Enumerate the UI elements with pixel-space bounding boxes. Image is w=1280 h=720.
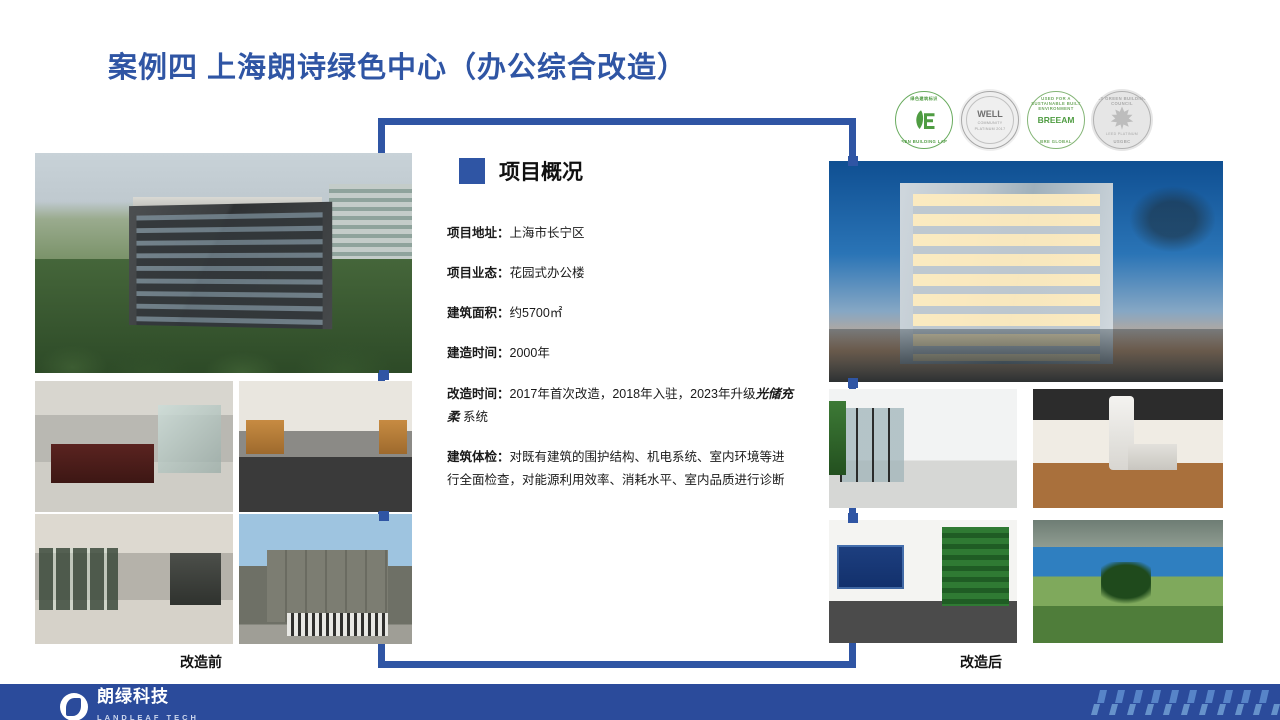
badge-leed-platinum-usgbc: US GREEN BUILDING COUNCIL LEED PLATINUM …	[1091, 89, 1153, 151]
badge-well-community-platinum: WELL COMMUNITY PLATINUM 2017	[959, 89, 1021, 151]
info-value-tail: 系统	[460, 410, 488, 424]
landleaf-logo-icon	[60, 693, 88, 720]
info-value: 2000年	[510, 346, 550, 360]
page-title: 案例四 上海朗诗绿色中心（办公综合改造）	[108, 44, 687, 86]
photo-layer-tree	[1121, 165, 1216, 320]
slide-root: 案例四 上海朗诗绿色中心（办公综合改造） 绿色建筑标识 GREEN BUILDI…	[0, 0, 1280, 720]
caption-after: 改造后	[960, 652, 1002, 672]
footer-decoration	[1090, 684, 1280, 720]
info-value: 约5700㎡	[510, 306, 563, 320]
photo-layer	[35, 514, 233, 644]
photo-layer	[1033, 389, 1223, 508]
info-value: 2017年首次改造，2018年入驻，2023年升级	[510, 387, 756, 401]
badge-breeam: USED FOR A SUSTAINABLE BUILT ENVIRONMENT…	[1025, 89, 1087, 151]
info-label: 建造时间：	[447, 346, 510, 360]
badge-bottom-text: GREEN BUILDING LABEL	[893, 139, 955, 144]
photo-before-thumb-2	[239, 381, 412, 512]
photo-before-thumb-1	[35, 381, 233, 512]
photo-after-thumb-1	[829, 389, 1017, 508]
photo-layer-building	[129, 201, 332, 329]
badge-top-text: 绿色建筑标识	[893, 96, 955, 102]
info-row-built-year: 建造时间：2000年	[447, 342, 797, 365]
photo-layer	[829, 520, 1017, 643]
info-row-address: 项目地址：上海市长宁区	[447, 222, 797, 245]
photo-before-main	[35, 153, 412, 373]
brand-name-en: LANDLEAF TECH	[97, 713, 199, 720]
photo-layer	[35, 381, 233, 512]
photo-before-thumb-3	[35, 514, 233, 644]
frame-accent-left-upper	[379, 370, 389, 380]
section-title: 项目概况	[499, 156, 583, 186]
info-label: 建筑体检：	[447, 450, 510, 464]
certification-badges: 绿色建筑标识 GREEN BUILDING LABEL WELL COMMUNI…	[893, 89, 1153, 151]
info-row-type: 项目业态：花园式办公楼	[447, 262, 797, 285]
brand-logo: 朗绿科技 LANDLEAF TECH	[60, 688, 199, 720]
frame-top-border	[378, 118, 856, 125]
info-row-area: 建筑面积：约5700㎡	[447, 302, 797, 325]
info-label: 建筑面积：	[447, 306, 510, 320]
project-overview-list: 项目地址：上海市长宁区 项目业态：花园式办公楼 建筑面积：约5700㎡ 建造时间…	[447, 222, 797, 509]
photo-layer-foreground	[829, 329, 1223, 382]
frame-accent-right-lower	[848, 513, 858, 523]
photo-layer	[1033, 520, 1223, 643]
info-label: 项目地址：	[447, 226, 510, 240]
badge-inner-ring	[966, 96, 1014, 144]
badge-core-text: WELL	[977, 110, 1003, 119]
photo-after-main	[829, 161, 1223, 382]
brand-text: 朗绿科技 LANDLEAF TECH	[97, 688, 199, 720]
frame-accent-right-upper	[848, 156, 858, 166]
section-header: 项目概况	[459, 156, 583, 186]
info-row-building-audit: 建筑体检：对既有建筑的围护结构、机电系统、室内环境等进行全面检查，对能源利用效率…	[447, 446, 797, 492]
photo-layer	[829, 389, 1017, 508]
caption-before: 改造前	[180, 652, 222, 672]
frame-accent-left-mid	[379, 511, 389, 521]
frame-bottom-border	[378, 661, 856, 668]
info-label: 项目业态：	[447, 266, 510, 280]
brand-name-cn: 朗绿科技	[97, 687, 169, 706]
frame-accent-right-mid	[848, 378, 858, 388]
maple-leaf-icon	[1107, 104, 1137, 130]
badge-bottom-text: USGBC	[1091, 139, 1153, 144]
section-marker-square	[459, 158, 485, 184]
footer-bar: 朗绿科技 LANDLEAF TECH	[0, 684, 1280, 720]
info-value: 花园式办公楼	[510, 266, 585, 280]
photo-layer	[239, 514, 412, 644]
photo-layer	[239, 381, 412, 512]
photo-after-thumb-3	[829, 520, 1017, 643]
info-value: 上海市长宁区	[510, 226, 585, 240]
info-row-renovation-time: 改造时间：2017年首次改造，2018年入驻，2023年升级光储充柔 系统	[447, 383, 797, 429]
photo-before-thumb-4	[239, 514, 412, 644]
photo-after-thumb-2	[1033, 389, 1223, 508]
badge-core-text: BREEAM	[1038, 116, 1075, 125]
badge-green-building-label: 绿色建筑标识 GREEN BUILDING LABEL	[893, 89, 955, 151]
info-label: 改造时间：	[447, 387, 510, 401]
leaf-icon	[909, 107, 939, 133]
badge-top-text: USED FOR A SUSTAINABLE BUILT ENVIRONMENT	[1025, 96, 1087, 111]
photo-after-thumb-4	[1033, 520, 1223, 643]
badge-bottom-text: BRE GLOBAL	[1025, 139, 1087, 144]
